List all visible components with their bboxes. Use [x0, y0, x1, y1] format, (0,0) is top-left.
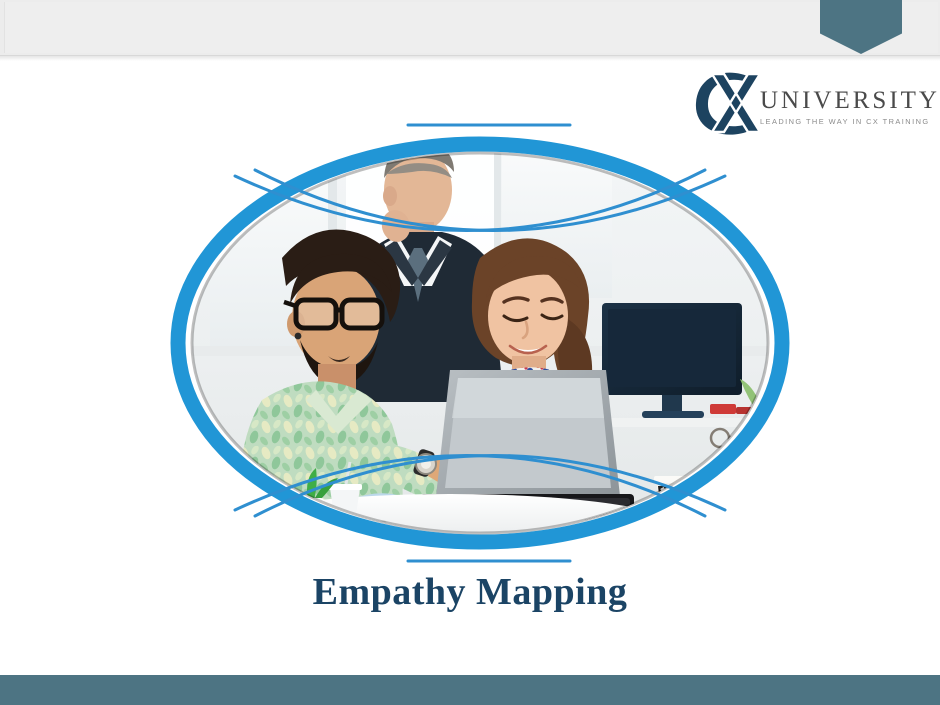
header-band — [0, 0, 940, 56]
page-title: Empathy Mapping — [0, 570, 940, 614]
header-shadow — [0, 56, 940, 61]
photo-content — [150, 108, 810, 568]
footer-bar — [0, 675, 940, 705]
slide-canvas: UNIVERSITY LEADING THE WAY IN CX TRAININ… — [0, 0, 940, 705]
tablet-device — [436, 370, 620, 496]
eyeglasses-icon — [284, 300, 382, 328]
photo-oval-frame — [150, 108, 810, 568]
oval-graphic — [150, 108, 810, 568]
header-band-inner — [4, 2, 938, 53]
